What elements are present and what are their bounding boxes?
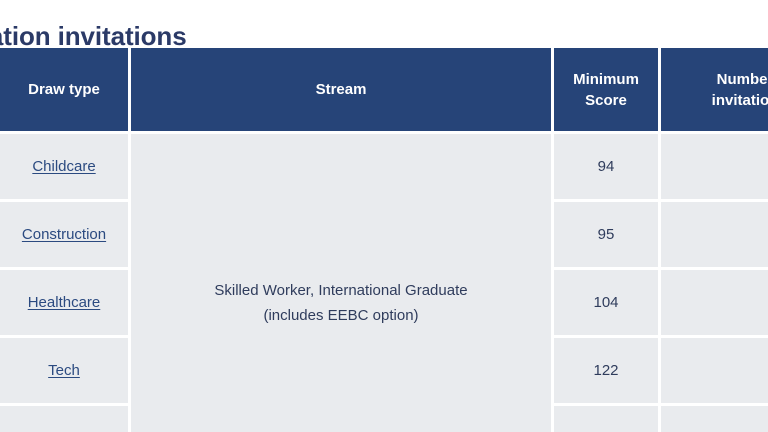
cell-number-of-invitations: 9	[661, 134, 768, 199]
stream-line-1: Skilled Worker, International Graduate	[143, 278, 539, 303]
column-header-minimum-score-line2: Score	[585, 92, 627, 109]
cell-number-of-invitations: 34	[661, 338, 768, 403]
cell-draw-type: Tech	[0, 338, 128, 403]
column-header-draw-type: Draw type	[0, 48, 128, 131]
table-scroll-container: Draw type Stream Minimum Score Number in…	[0, 48, 768, 432]
cell-draw-type: Veterinary care	[0, 406, 128, 432]
draw-type-link-childcare[interactable]: Childcare	[32, 158, 95, 175]
page-root: igration invitations Draw type Stream Mi…	[0, 0, 768, 432]
table-row: Childcare Skilled Worker, International …	[0, 134, 768, 199]
cell-draw-type: Childcare	[0, 134, 128, 199]
column-header-minimum-score: Minimum Score	[554, 48, 658, 131]
cell-number-of-invitations: 10	[661, 202, 768, 267]
cell-number-of-invitations: 14	[661, 270, 768, 335]
column-header-number-of-invitations: Number invitation	[661, 48, 768, 131]
cell-minimum-score: 122	[554, 338, 658, 403]
draw-type-link-tech[interactable]: Tech	[48, 362, 80, 379]
table-header-row: Draw type Stream Minimum Score Number in…	[0, 48, 768, 131]
table-header: Draw type Stream Minimum Score Number in…	[0, 48, 768, 131]
draw-type-link-construction[interactable]: Construction	[22, 226, 106, 243]
draw-type-link-healthcare[interactable]: Healthcare	[28, 294, 101, 311]
immigration-invitations-table: Draw type Stream Minimum Score Number in…	[0, 48, 768, 432]
cell-minimum-score: 94	[554, 134, 658, 199]
column-header-number-line2: invitation	[712, 92, 768, 109]
cell-minimum-score: 80	[554, 406, 658, 432]
cell-stream: Skilled Worker, International Graduate (…	[131, 134, 551, 432]
column-header-minimum-score-line1: Minimum	[573, 71, 639, 88]
cell-minimum-score: 95	[554, 202, 658, 267]
column-header-stream: Stream	[131, 48, 551, 131]
cell-minimum-score: 104	[554, 270, 658, 335]
cell-draw-type: Construction	[0, 202, 128, 267]
cell-draw-type: Healthcare	[0, 270, 128, 335]
column-header-number-line1: Number	[717, 71, 768, 88]
stream-line-2: (includes EEBC option)	[143, 303, 539, 328]
table-body: Childcare Skilled Worker, International …	[0, 134, 768, 432]
cell-number-of-invitations: <5	[661, 406, 768, 432]
